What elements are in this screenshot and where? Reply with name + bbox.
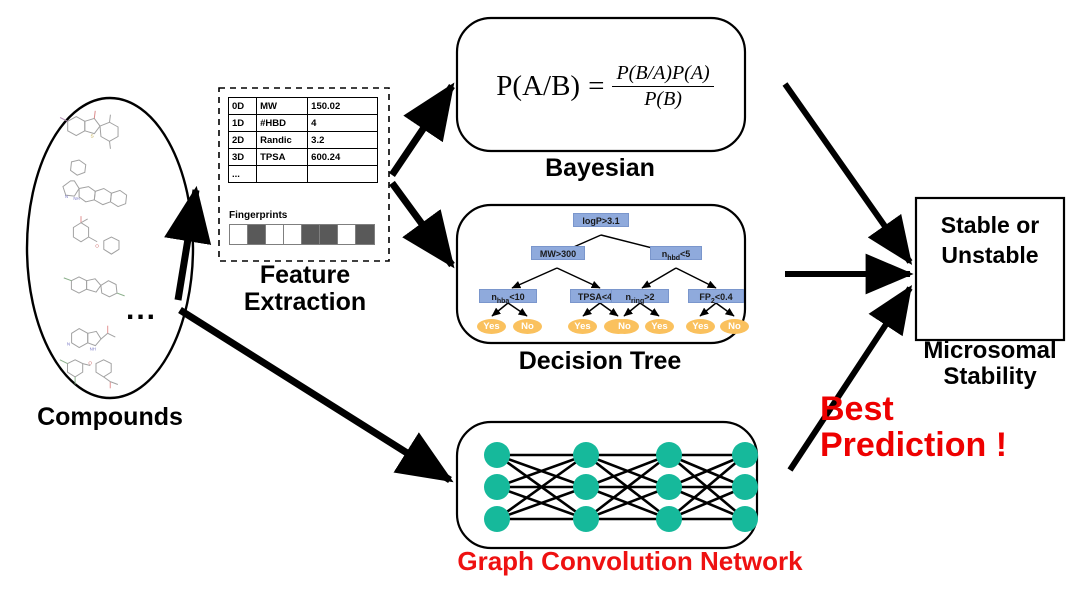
gcn-node [732, 474, 758, 500]
dt-leaf-2: Yes [568, 319, 597, 334]
fingerprint-bit-1 [248, 225, 266, 244]
svg-text:O: O [95, 243, 99, 249]
fingerprint-bitvector [229, 224, 375, 245]
svg-text:NH: NH [90, 346, 96, 351]
arrow-features-to-bayesian [392, 86, 452, 175]
arrow-bayesian-to-outcome [785, 84, 910, 262]
svg-text:O: O [88, 361, 92, 367]
fingerprint-bit-5 [320, 225, 338, 244]
compounds-ellipsis: ... [126, 293, 157, 327]
bayes-lhs: P(A/B) [496, 70, 580, 103]
dt-leaf-5: Yes [645, 319, 674, 334]
bayes-fraction: P(B/A)P(A) P(B) [612, 62, 713, 111]
gcn-node [732, 442, 758, 468]
fingerprints-label: Fingerprints [229, 210, 287, 221]
dt-node-nhba: nhba<10 [479, 289, 537, 303]
microsomal-stability-caption: Microsomal Stability [900, 338, 1080, 390]
dt-node-fp2: FP2<0.4 [688, 289, 744, 303]
dt-leaf-1: No [513, 319, 542, 334]
gcn-node [484, 506, 510, 532]
feature-dim: ... [229, 166, 257, 183]
decision-tree-label: Decision Tree [470, 348, 730, 375]
fingerprint-bit-7 [356, 225, 374, 244]
fingerprint-bit-6 [338, 225, 356, 244]
fingerprint-bit-3 [284, 225, 302, 244]
dt-leaf-4: No [610, 319, 639, 334]
table-row: 3D TPSA 600.24 [229, 149, 378, 166]
arrow-features-to-tree [392, 183, 452, 265]
feature-dim: 2D [229, 132, 257, 149]
gcn-node [656, 442, 682, 468]
feature-extraction-label: Feature Extraction [222, 262, 388, 316]
feature-dim: 3D [229, 149, 257, 166]
feature-name: MW [257, 98, 308, 115]
gcn-node [656, 506, 682, 532]
dt-leaf-6: Yes [686, 319, 715, 334]
best-prediction-annotation: Best Prediction ! [820, 392, 1070, 463]
feature-value: 150.02 [308, 98, 378, 115]
gcn-node [656, 474, 682, 500]
feature-name: #HBD [257, 115, 308, 132]
dt-node-nring: nring>2 [611, 289, 669, 303]
gcn-node [573, 442, 599, 468]
svg-text:N: N [67, 342, 70, 347]
bayes-denominator: P(B) [612, 86, 713, 111]
dt-node-mw: MW>300 [531, 246, 585, 260]
feature-value [308, 166, 378, 183]
feature-dim: 0D [229, 98, 257, 115]
dt-leaf-7: No [720, 319, 749, 334]
table-row: 1D #HBD 4 [229, 115, 378, 132]
svg-text:N: N [65, 194, 68, 199]
dt-leaf-0: Yes [477, 319, 506, 334]
feature-value: 4 [308, 115, 378, 132]
table-row: 0D MW 150.02 [229, 98, 378, 115]
gcn-node [484, 474, 510, 500]
outcome-box-text: Stable or Unstable [918, 210, 1062, 271]
bayes-numerator: P(B/A)P(A) [612, 62, 713, 86]
feature-name [257, 166, 308, 183]
compounds-label: Compounds [0, 404, 220, 431]
feature-name: TPSA [257, 149, 308, 166]
table-row: 2D Randic 3.2 [229, 132, 378, 149]
bayes-formula: P(A/B) = P(B/A)P(A) P(B) [500, 62, 710, 111]
gcn-node [484, 442, 510, 468]
feature-dim: 1D [229, 115, 257, 132]
flow-arrows-features [392, 86, 452, 265]
arrow-compounds-to-gcn [180, 310, 450, 480]
fingerprint-bit-4 [302, 225, 320, 244]
fingerprint-bit-0 [230, 225, 248, 244]
gcn-node [732, 506, 758, 532]
bayes-equals-sign: = [588, 70, 604, 103]
dt-node-nhbd: nhbd<5 [650, 246, 702, 260]
feature-name: Randic [257, 132, 308, 149]
fingerprint-bit-2 [266, 225, 284, 244]
table-row: ... [229, 166, 378, 183]
gcn-node [573, 506, 599, 532]
dt-node-root: logP>3.1 [573, 213, 629, 227]
gcn-node [573, 474, 599, 500]
bayesian-label: Bayesian [470, 155, 730, 182]
feature-value: 3.2 [308, 132, 378, 149]
feature-value: 600.24 [308, 149, 378, 166]
svg-text:S: S [91, 133, 94, 139]
feature-table: 0D MW 150.02 1D #HBD 4 2D Randic 3.2 3D … [228, 97, 378, 183]
diagram-canvas: S N NH O [0, 0, 1080, 600]
gcn-label: Graph Convolution Network [400, 547, 860, 575]
